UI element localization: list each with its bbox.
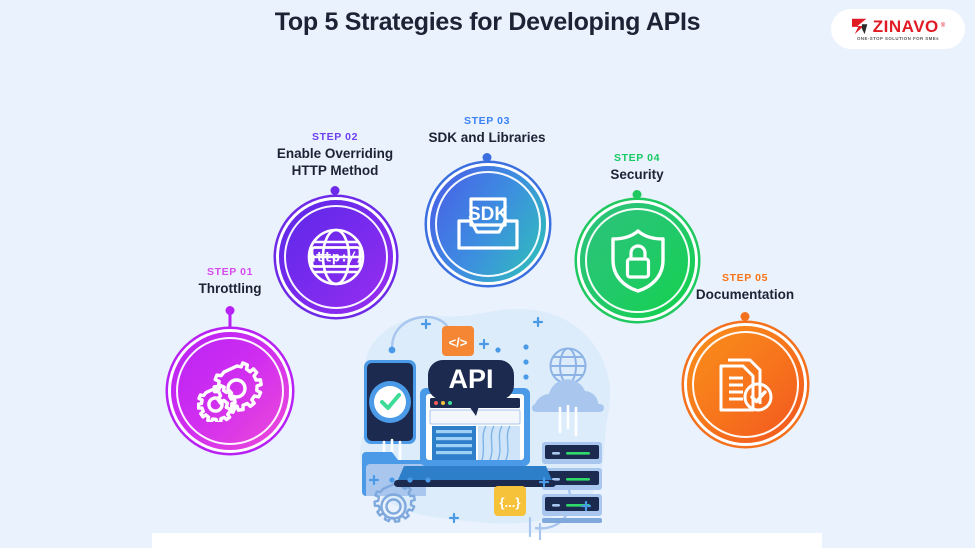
step-04-title: Security xyxy=(527,166,747,183)
page-title: Top 5 Strategies for Developing APIs xyxy=(0,8,975,37)
step-04-label: STEP 04 Security xyxy=(527,152,747,183)
step-03-title: SDK and Libraries xyxy=(377,129,597,146)
step-03-number: STEP 03 xyxy=(377,115,597,127)
documents-check-icon xyxy=(713,352,779,418)
json-badge-label: {...} xyxy=(500,495,521,510)
smartphone-check-icon xyxy=(364,360,416,444)
brand-logo[interactable]: ZINAVO ® ONE-STOP SOLUTION FOR SMEs xyxy=(831,9,965,49)
code-badge: </> xyxy=(442,326,474,356)
logo-tagline: ONE-STOP SOLUTION FOR SMEs xyxy=(857,36,939,41)
step-04-number: STEP 04 xyxy=(527,152,747,164)
api-development-illustration: </> xyxy=(330,290,630,545)
step-02-title-line1: Enable Overriding xyxy=(225,145,445,162)
step-01-stem xyxy=(229,312,232,334)
gears-icon xyxy=(197,360,263,422)
step-03-label: STEP 03 SDK and Libraries xyxy=(377,115,597,146)
globe-http-icon: http:// xyxy=(300,224,372,290)
sdk-box-icon: SDK xyxy=(453,191,523,257)
step-03-circle-sdk[interactable]: SDK xyxy=(430,166,546,282)
cable-endpoint-dot xyxy=(389,347,396,354)
http-label: http:// xyxy=(308,249,365,265)
infographic-canvas: Top 5 Strategies for Developing APIs ZIN… xyxy=(0,0,975,548)
logo-wordmark-row: ZINAVO ® xyxy=(851,17,945,35)
shield-lock-icon xyxy=(607,227,669,295)
code-badge-label: </> xyxy=(449,335,468,350)
logo-registered-mark: ® xyxy=(941,23,945,29)
step-01-circle-throttling[interactable] xyxy=(171,332,289,450)
logo-text: ZINAVO xyxy=(873,18,939,35)
sdk-label: SDK xyxy=(468,204,508,225)
json-badge: {...} xyxy=(494,486,526,516)
zinavo-arrow-icon xyxy=(851,17,871,35)
step-05-circle-documentation[interactable] xyxy=(687,326,804,443)
api-bubble-label: API xyxy=(448,364,493,394)
step-02-title-line2: HTTP Method xyxy=(225,162,445,179)
